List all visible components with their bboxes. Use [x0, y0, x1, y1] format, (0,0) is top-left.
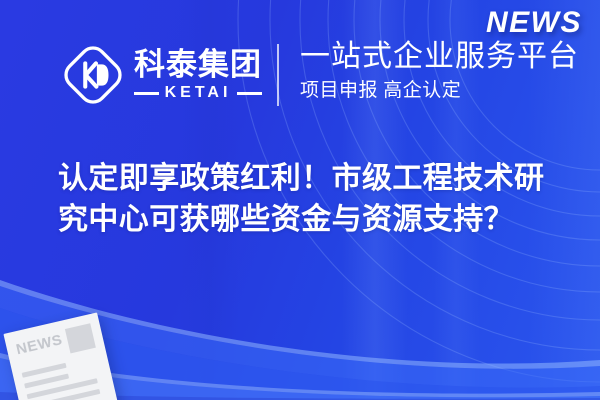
page-title: 认定即享政策红利！市级工程技术研究中心可获哪些资金与资源支持？ [58, 158, 568, 241]
image-placeholder-icon [65, 323, 96, 353]
tagline-main: 一站式企业服务平台 [300, 40, 579, 75]
wordmark-dash-right [237, 92, 262, 95]
ketai-monogram-icon [62, 44, 124, 106]
news-banner: NEWS 科泰集团 KETAI 一站式企业服务平台 项目申报 高企认定 [0, 0, 600, 400]
tagline-sub: 项目申报 高企认定 [300, 80, 579, 102]
brand-lockup: 科泰集团 KETAI [62, 44, 262, 106]
brand-name-cn: 科泰集团 [134, 49, 262, 80]
brand-name-en: KETAI [159, 85, 238, 101]
brand-name-en-row: KETAI [134, 85, 262, 101]
brand-wordmark: 科泰集团 KETAI [134, 49, 262, 101]
newspaper-text-lines [22, 355, 109, 400]
newspaper-title: NEWS [15, 332, 64, 357]
news-badge: NEWS [486, 6, 582, 40]
banner-header: NEWS 科泰集团 KETAI 一站式企业服务平台 项目申报 高企认定 [0, 0, 600, 140]
tagline-block: 一站式企业服务平台 项目申报 高企认定 [300, 40, 579, 101]
wordmark-dash-left [134, 92, 159, 95]
vertical-divider-icon [277, 44, 279, 106]
